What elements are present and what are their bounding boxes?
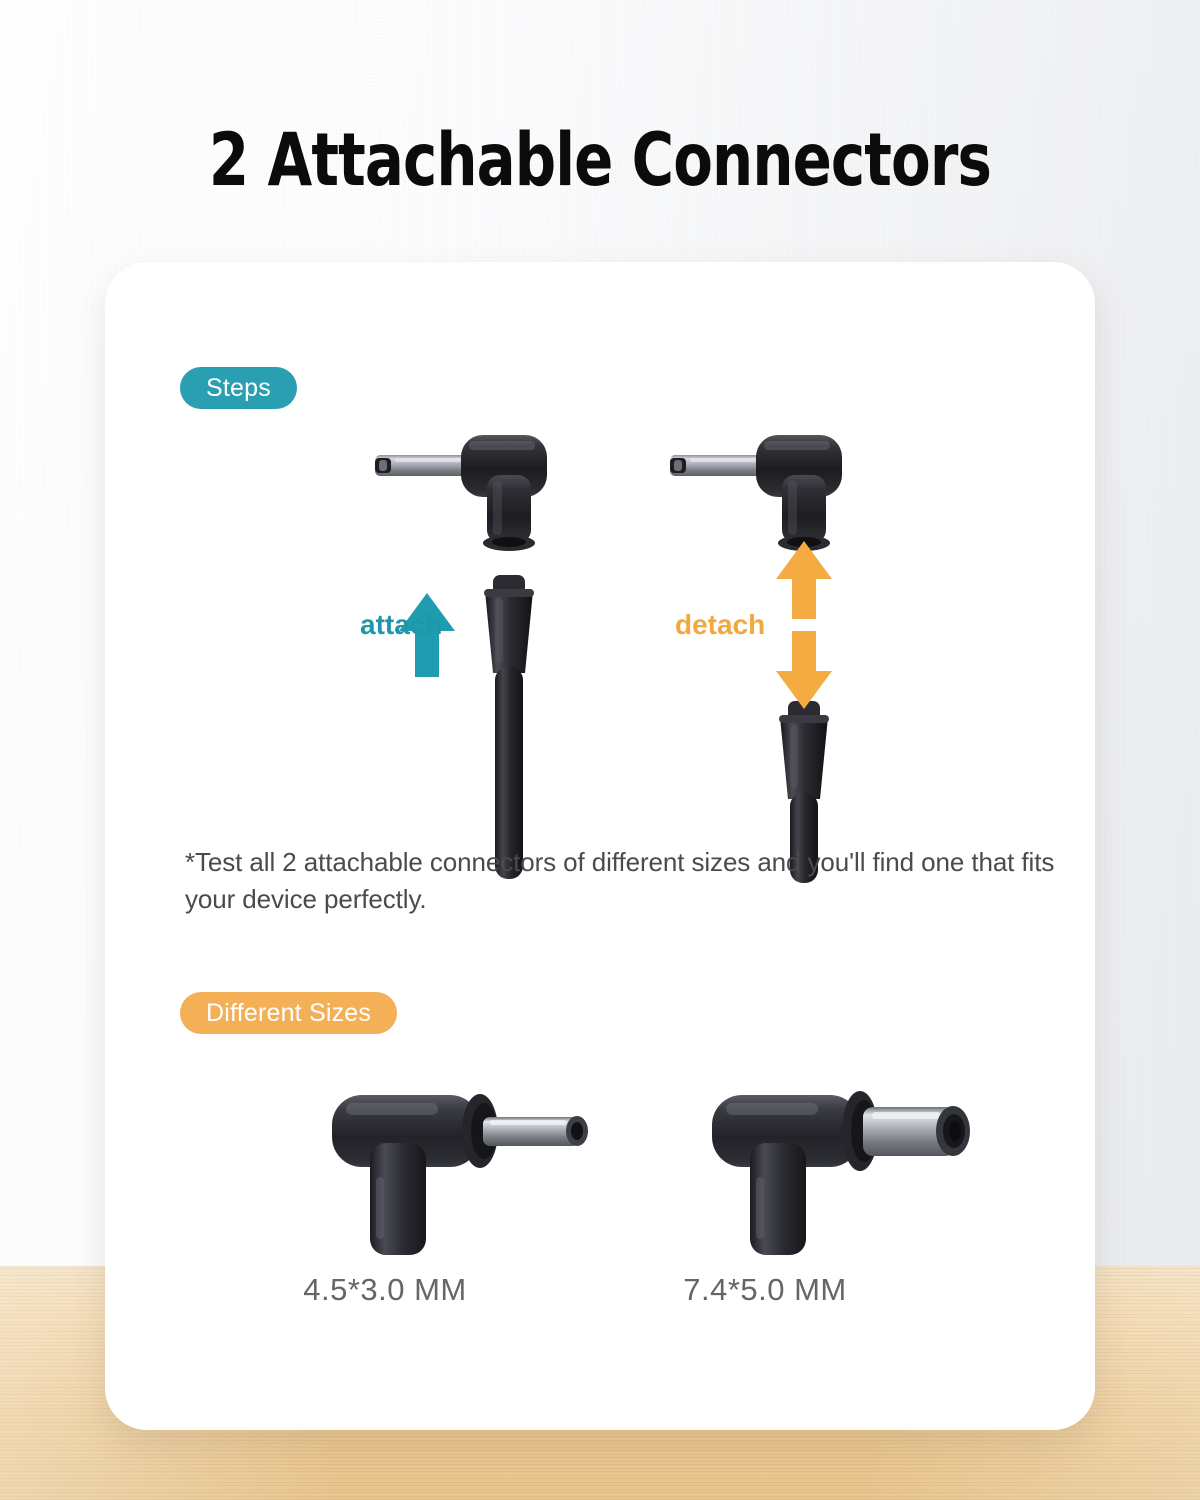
badge-steps: Steps	[180, 367, 297, 409]
detach-label: detach	[675, 609, 765, 641]
connector-size-label-0: 4.5*3.0 MM	[225, 1272, 545, 1308]
connector-svg-0	[320, 1077, 610, 1267]
connector-vertical-stem	[782, 475, 826, 543]
arrow-up-icon	[776, 541, 832, 619]
connector-barrel-narrow	[483, 1116, 588, 1146]
cable-plug	[779, 701, 829, 799]
connector-image-0	[320, 1077, 610, 1267]
content-card: Steps	[105, 262, 1095, 1430]
connector-vertical-stem	[487, 475, 531, 543]
attach-diagram-svg	[365, 427, 635, 1027]
badge-different-sizes: Different Sizes	[180, 992, 397, 1034]
page-title: 2 Attachable Connectors	[72, 118, 1128, 203]
arrow-down-icon	[776, 631, 832, 709]
connector-socket	[483, 535, 535, 551]
connector-stem	[750, 1143, 806, 1255]
connector-pin	[375, 455, 467, 476]
connector-stem	[370, 1143, 426, 1255]
attach-label: attach	[360, 609, 442, 641]
detach-diagram-svg	[660, 427, 930, 1027]
connector-image-1	[700, 1077, 990, 1267]
cable-plug	[484, 575, 534, 673]
connector-pin	[670, 455, 762, 476]
product-infographic: 2 Attachable Connectors Steps	[0, 0, 1200, 1500]
attach-illustration	[365, 427, 635, 1027]
connector-barrel-wide	[863, 1106, 970, 1156]
footnote-text: *Test all 2 attachable connectors of dif…	[185, 844, 1055, 919]
connector-size-label-1: 7.4*5.0 MM	[605, 1272, 925, 1308]
detach-illustration	[660, 427, 930, 1027]
connector-svg-1	[700, 1077, 990, 1267]
